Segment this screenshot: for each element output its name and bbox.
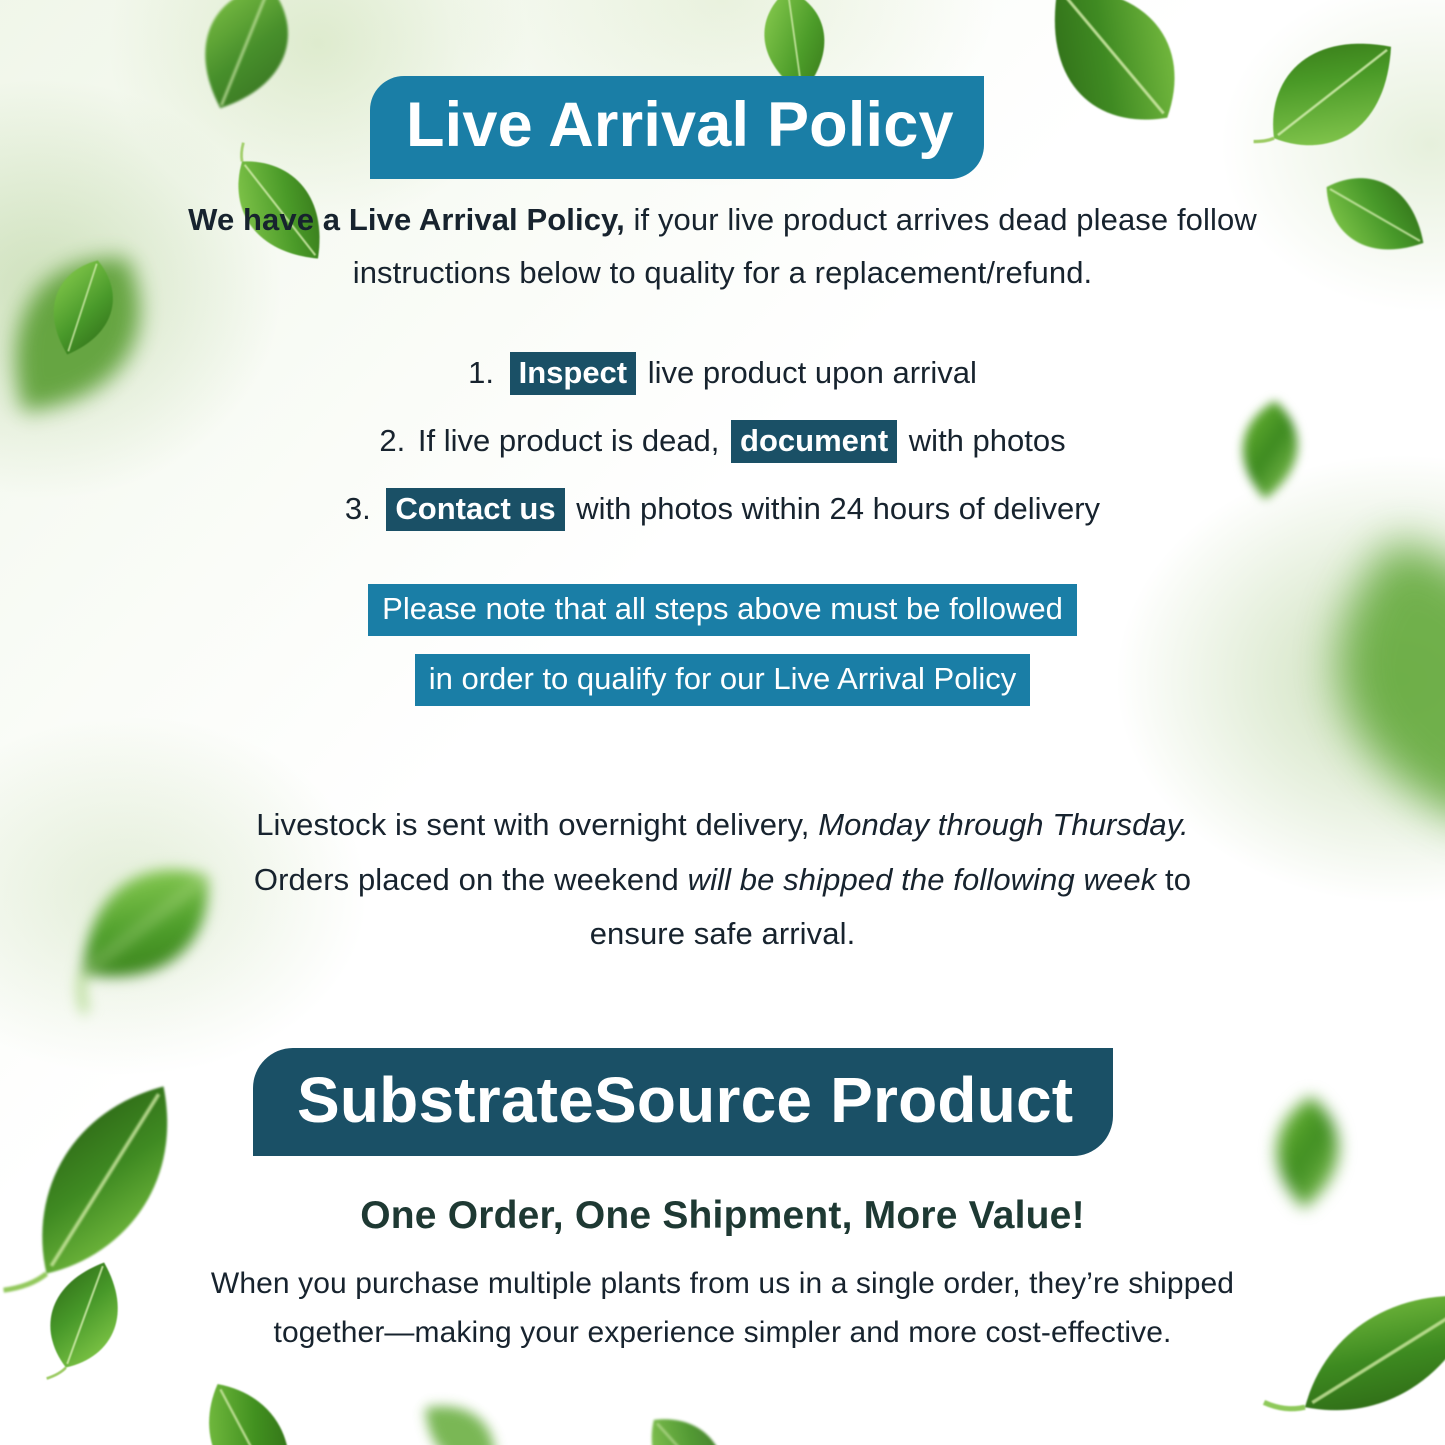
step-number: 1.: [468, 355, 494, 390]
shipping-schedule-paragraph: Livestock is sent with overnight deliver…: [215, 798, 1230, 962]
note-line-2: in order to qualify for our Live Arrival…: [415, 654, 1031, 706]
step-number: 2.: [379, 423, 405, 458]
step-highlight-contact-us[interactable]: Contact us: [386, 488, 564, 531]
shipping-line1-regular: Livestock is sent with overnight deliver…: [256, 807, 818, 842]
step-number: 3.: [345, 491, 371, 526]
intro-bold-text: We have a Live Arrival Policy,: [188, 202, 625, 237]
step-post-text: live product upon arrival: [648, 355, 977, 390]
step-pre-text: If live product is dead,: [418, 423, 720, 458]
substratesource-product-banner: SubstrateSource Product: [253, 1048, 1113, 1156]
list-item: 2. If live product is dead, document wit…: [180, 420, 1265, 463]
policy-steps-list: 1. Inspect live product upon arrival 2. …: [180, 352, 1265, 556]
value-headline: One Order, One Shipment, More Value!: [180, 1194, 1265, 1238]
list-item: 3. Contact us with photos within 24 hour…: [180, 488, 1265, 531]
step-post-text: with photos: [909, 423, 1066, 458]
note-line-1: Please note that all steps above must be…: [368, 584, 1077, 636]
intro-paragraph: We have a Live Arrival Policy, if your l…: [160, 194, 1285, 299]
shipping-line2-regular: Orders placed on the weekend: [254, 862, 688, 897]
step-highlight-document: document: [731, 420, 897, 463]
step-highlight-inspect: Inspect: [510, 352, 637, 395]
shipping-line2-italic: will be shipped the following week: [688, 862, 1157, 897]
shipping-line1-italic: Monday through Thursday.: [818, 807, 1189, 842]
step-post-text: with photos within 24 hours of delivery: [576, 491, 1100, 526]
list-item: 1. Inspect live product upon arrival: [180, 352, 1265, 395]
live-arrival-policy-banner: Live Arrival Policy: [370, 76, 984, 179]
value-paragraph: When you purchase multiple plants from u…: [180, 1260, 1265, 1357]
policy-note-block: Please note that all steps above must be…: [180, 584, 1265, 724]
